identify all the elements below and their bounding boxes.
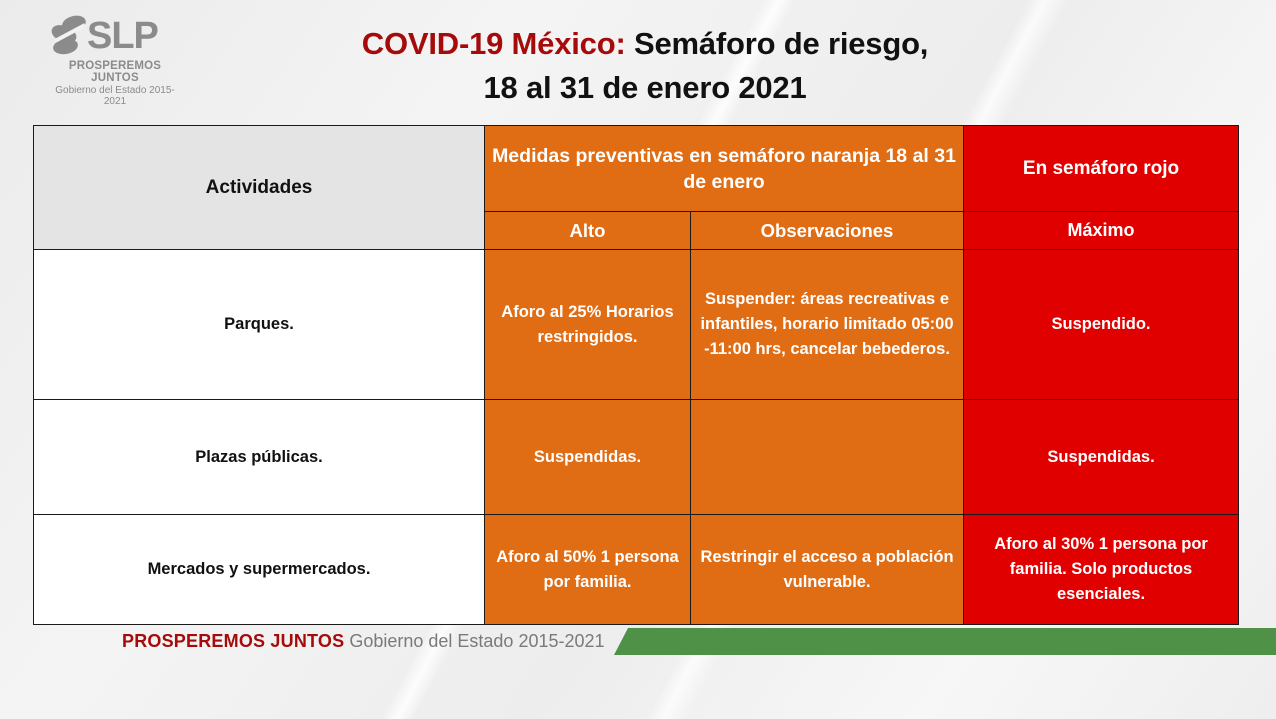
footer-slogan: PROSPEREMOS JUNTOS [122,631,344,651]
page-title-accent: COVID-19 México: [362,26,626,61]
header-actividades: Actividades [34,126,485,250]
table-header-row-group: Actividades Medidas preventivas en semáf… [34,126,1239,212]
cell-activity: Mercados y supermercados. [34,515,485,625]
cell-observaciones: Suspender: áreas recreativas e infantile… [691,250,964,400]
header-sub-maximo: Máximo [964,212,1239,250]
table-header: Actividades Medidas preventivas en semáf… [34,126,1239,250]
footer-subtitle: Gobierno del Estado 2015-2021 [344,631,604,651]
risk-measures-table: Actividades Medidas preventivas en semáf… [33,125,1239,625]
footer-text: PROSPEREMOS JUNTOS Gobierno del Estado 2… [122,628,605,654]
slp-logo-mark-icon [50,15,90,57]
cell-activity: Plazas públicas. [34,400,485,515]
slide-footer: PROSPEREMOS JUNTOS Gobierno del Estado 2… [0,626,1276,660]
cell-maximo: Suspendido. [964,250,1239,400]
cell-alto: Suspendidas. [485,400,691,515]
logo-wordmark: SLP [87,17,158,55]
table-row: Mercados y supermercados. Aforo al 50% 1… [34,515,1239,625]
header-red-group: En semáforo rojo [964,126,1239,212]
header-orange-group: Medidas preventivas en semáforo naranja … [485,126,964,212]
cell-maximo: Suspendidas. [964,400,1239,515]
table-row: Parques. Aforo al 25% Horarios restringi… [34,250,1239,400]
cell-alto: Aforo al 50% 1 persona por familia. [485,515,691,625]
cell-maximo: Aforo al 30% 1 persona por familia. Solo… [964,515,1239,625]
logo-tagline-primary: PROSPEREMOS JUNTOS [50,60,180,84]
header-sub-alto: Alto [485,212,691,250]
logo-tagline-secondary: Gobierno del Estado 2015-2021 [50,85,180,107]
header-sub-observaciones: Observaciones [691,212,964,250]
footer-green-bar [614,628,1276,655]
page-title-rest: Semáforo de riesgo, [626,26,929,61]
cell-observaciones: Restringir el acceso a población vulnera… [691,515,964,625]
page-title-line2: 18 al 31 de enero 2021 [483,70,806,105]
table-body: Parques. Aforo al 25% Horarios restringi… [34,250,1239,625]
cell-observaciones [691,400,964,515]
slp-logo: SLP PROSPEREMOS JUNTOS Gobierno del Esta… [50,14,180,86]
table-row: Plazas públicas. Suspendidas. Suspendida… [34,400,1239,515]
page-title: COVID-19 México: Semáforo de riesgo, 18 … [230,22,1060,110]
logo-top-row: SLP [50,14,180,58]
cell-alto: Aforo al 25% Horarios restringidos. [485,250,691,400]
slide-canvas: SLP PROSPEREMOS JUNTOS Gobierno del Esta… [0,0,1276,719]
cell-activity: Parques. [34,250,485,400]
